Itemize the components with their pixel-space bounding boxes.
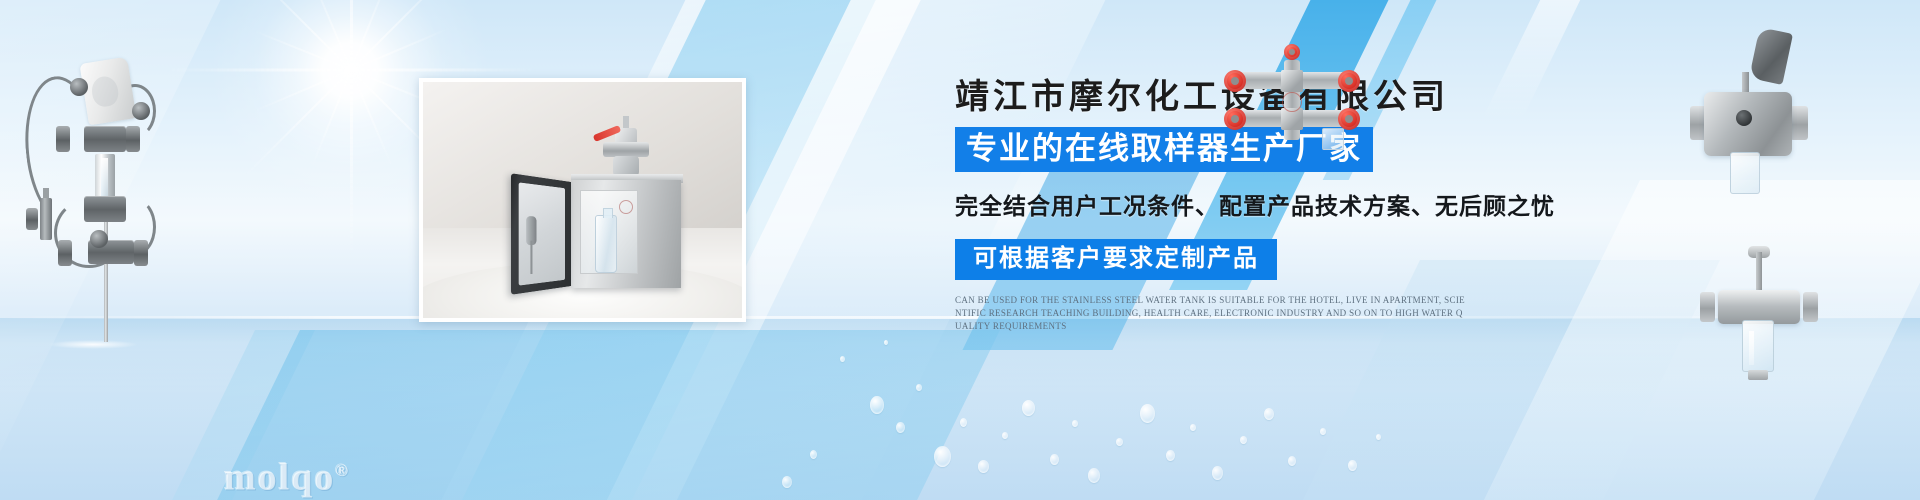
photo-valve-ring [613, 156, 639, 176]
photo-door-key [530, 241, 532, 274]
cta-box[interactable]: 可根据客户要求定制产品 [955, 239, 1277, 280]
device-flange-lr [134, 240, 148, 266]
device-sight-glass [95, 154, 115, 202]
english-description: CAN BE USED FOR THE STAINLESS STEEL WATE… [955, 294, 1373, 333]
small-sampler-flange-left [1700, 292, 1715, 322]
lever-handle [1749, 27, 1793, 85]
device-hood [79, 57, 136, 126]
photo-top-valve-assembly [599, 122, 653, 178]
photo-cabinet [571, 180, 681, 288]
device-flange-ul [56, 126, 70, 152]
small-sampler-vial [1742, 320, 1774, 372]
photo-valve-flange [603, 142, 649, 157]
device-valve-block-mid [84, 196, 126, 222]
photo-cabinet-door [511, 173, 571, 295]
lever-sample-vial [1730, 152, 1760, 194]
device-nut-top-right [132, 102, 150, 120]
red-handwheel-top [1284, 44, 1300, 60]
red-handwheel-right-upper [1338, 70, 1360, 92]
device-flange-ll [58, 240, 72, 266]
small-sampler-foot [1748, 370, 1768, 380]
small-sampler-stem [1756, 252, 1762, 294]
device-flange-ur [126, 126, 140, 152]
english-line-3: UALITY REQUIREMENTS [955, 320, 1373, 333]
photo-sample-bottle [595, 215, 617, 273]
lever-bore-opening [1736, 110, 1752, 126]
photo-stamp-badge [619, 200, 633, 214]
watermark-text: molqo [224, 457, 335, 499]
photo-content [423, 82, 742, 318]
device-nut-top-left [70, 78, 88, 96]
cross-sample-vial [1322, 128, 1344, 150]
right-lever-valve-render [1690, 30, 1810, 210]
red-handwheel-right-lower [1338, 108, 1360, 130]
english-line-2: NTIFIC RESEARCH TEACHING BUILDING, HEALT… [955, 307, 1373, 320]
left-product-render [18, 48, 168, 348]
right-small-sampler-render [1700, 252, 1818, 412]
device-hood-dial [90, 75, 120, 109]
promo-banner: 靖江市摩尔化工设备有限公司 专业的在线取样器生产厂家 完全结合用户工况条件、配置… [0, 0, 1920, 500]
sub-headline: 完全结合用户工况条件、配置产品技术方案、无后顾之忧 [955, 191, 1595, 221]
small-sampler-flange-right [1803, 292, 1818, 322]
brand-watermark: molqo® [224, 452, 348, 497]
device-flange-far-left [26, 208, 38, 230]
center-product-photo [419, 78, 746, 322]
right-cross-manifold-render [1212, 44, 1372, 154]
device-valve-block-upper [84, 126, 126, 152]
english-line-1: CAN BE USED FOR THE STAINLESS STEEL WATE… [955, 294, 1373, 307]
device-ground-shadow [48, 340, 138, 349]
cross-stamp-badge [1282, 92, 1302, 112]
small-sampler-body [1718, 290, 1800, 324]
lever-port-right [1790, 106, 1808, 140]
cross-junction-upper [1281, 70, 1303, 92]
red-handwheel-left-upper [1224, 70, 1246, 92]
device-nut-bottom [90, 230, 108, 248]
watermark-registered-mark: ® [335, 461, 348, 480]
red-handwheel-left-lower [1224, 108, 1246, 130]
device-relief-valve [40, 198, 52, 240]
